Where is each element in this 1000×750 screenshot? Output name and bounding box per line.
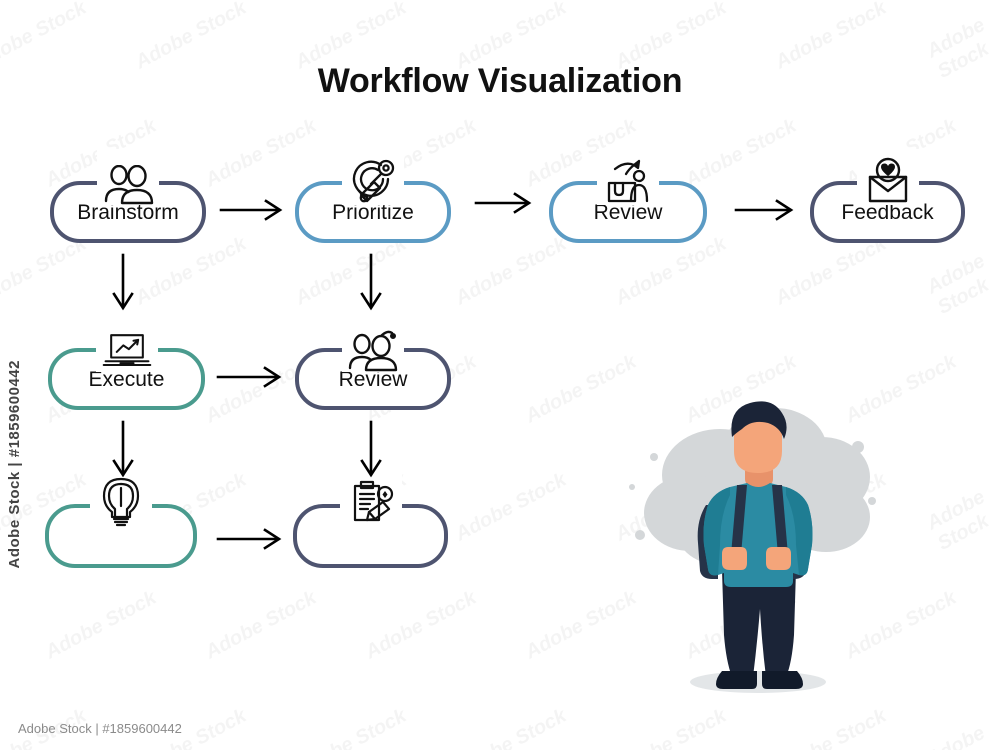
laptop-chart-icon (96, 316, 158, 372)
flow-node-node-empty-slate[interactable] (293, 504, 448, 568)
arrow-arrow-execute-reviewmid (216, 366, 282, 388)
watermark-text: Adobe Stock (42, 587, 161, 665)
watermark-text: Adobe Stock (292, 705, 411, 750)
watermark-text: Adobe Stock (923, 718, 1000, 750)
watermark-text: Adobe Stock (923, 246, 1000, 319)
flow-node-review-mid[interactable]: Review (295, 348, 451, 410)
stock-id-watermark: Adobe Stock | #1859600442 (6, 360, 23, 568)
page-title: Workflow Visualization (0, 62, 1000, 101)
arrow-arrow-brainstorm-execute (112, 253, 134, 311)
shoe-right (762, 671, 803, 689)
watermark-text: Adobe Stock (612, 233, 731, 311)
watermark-text: Adobe Stock (202, 115, 321, 193)
two-people-icon (97, 149, 159, 205)
watermark-text: Adobe Stock (0, 233, 90, 311)
shoe-left (716, 671, 757, 689)
target-search-icon (342, 149, 404, 205)
flow-node-feedback[interactable]: Feedback (810, 181, 965, 243)
watermark-text: Adobe Stock (452, 469, 571, 547)
presentation-icon (597, 149, 659, 205)
watermark-text: Adobe Stock (682, 115, 801, 193)
arrow-arrow-review-feedback (734, 199, 794, 221)
arrow-arrow-brainstorm-prioritize (219, 199, 283, 221)
watermark-text: Adobe Stock (452, 705, 571, 750)
ground-shadow (690, 671, 826, 693)
flow-node-prioritize[interactable]: Prioritize (295, 181, 451, 243)
arrow-arrow-prioritize-review-mid (360, 253, 382, 311)
watermark-text: Adobe Stock (993, 602, 1000, 672)
student-illustration (610, 395, 900, 715)
arrow-arrow-reviewmid-down (360, 420, 382, 478)
document-review-icon (340, 472, 402, 528)
watermark-text: Adobe Stock (452, 233, 571, 311)
people-idea-icon (342, 316, 404, 372)
watermark-text: Adobe Stock (993, 366, 1000, 436)
flow-node-execute[interactable]: Execute (48, 348, 205, 410)
flow-node-node-empty-teal[interactable] (45, 504, 197, 568)
arrow-arrow-prioritize-review (474, 192, 532, 214)
watermark-text: Adobe Stock (132, 233, 251, 311)
flow-node-brainstorm[interactable]: Brainstorm (50, 181, 206, 243)
hand-right (766, 547, 791, 570)
watermark-text: Adobe Stock (362, 587, 481, 665)
arrow-arrow-execute-down (112, 420, 134, 478)
workflow-canvas: Adobe StockAdobe StockAdobe StockAdobe S… (0, 0, 1000, 750)
watermark-text: Adobe Stock (202, 587, 321, 665)
watermark-text: Adobe Stock (993, 130, 1000, 200)
arrow-arrow-bottom-right (216, 528, 282, 550)
hand-left (722, 547, 747, 570)
bottom-watermark: Adobe Stock | #1859600442 (18, 721, 182, 736)
lightbulb-icon (90, 472, 152, 528)
flow-node-review-top[interactable]: Review (549, 181, 707, 243)
heart-envelope-icon (857, 149, 919, 205)
watermark-text: Adobe Stock (292, 233, 411, 311)
watermark-text: Adobe Stock (772, 233, 891, 311)
watermark-text: Adobe Stock (923, 482, 1000, 555)
